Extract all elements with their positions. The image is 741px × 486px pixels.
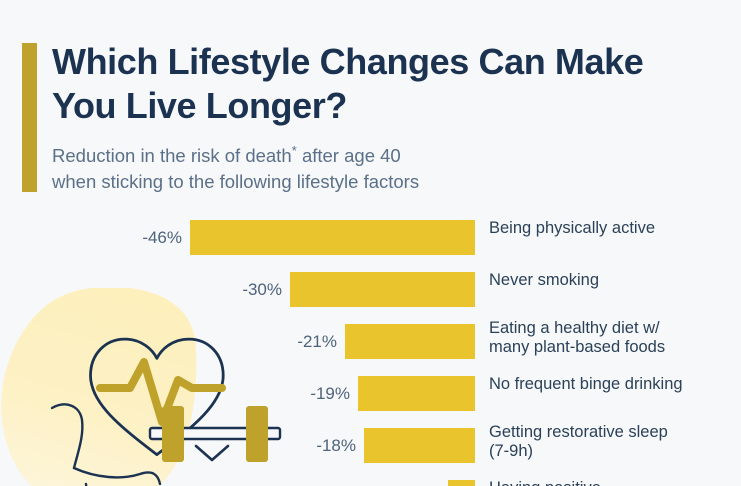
- chart-row: -19% No frequent binge drinking: [0, 376, 741, 420]
- bar: [358, 376, 475, 411]
- category-line-1: Being physically active: [489, 219, 655, 237]
- category-line-2: (7-9h): [489, 442, 533, 460]
- bar-category-label: Never smoking: [489, 271, 737, 290]
- category-line-1: Eating a healthy diet w/: [489, 319, 660, 337]
- bar-chart: -46% Being physically active -30% Never …: [0, 214, 741, 486]
- page-subtitle: Reduction in the risk of death* after ag…: [52, 143, 692, 196]
- header-accent-bar: [22, 43, 37, 192]
- chart-row: -18% Getting restorative sleep (7-9h): [0, 428, 741, 472]
- bar: [190, 220, 475, 255]
- chart-row: -46% Being physically active: [0, 220, 741, 264]
- page-title: Which Lifestyle Changes Can Make You Liv…: [52, 40, 712, 128]
- chart-row: -21% Eating a healthy diet w/ many plant…: [0, 324, 741, 368]
- subtitle-text-post: after age 40: [297, 145, 401, 166]
- bar-value-label: -19%: [310, 376, 350, 411]
- subtitle-text-pre: Reduction in the risk of death: [52, 145, 292, 166]
- subtitle-line-2: when sticking to the following lifestyle…: [52, 171, 419, 192]
- bar-value-label: -21%: [297, 324, 337, 359]
- bar-value-label: -30%: [242, 272, 282, 307]
- bar-category-label: Being physically active: [489, 219, 737, 238]
- bar: [448, 480, 475, 486]
- bar: [364, 428, 475, 463]
- bar-category-label: Having positive: [489, 479, 737, 486]
- infographic-root: Which Lifestyle Changes Can Make You Liv…: [0, 0, 741, 486]
- bar-value-label: -18%: [316, 428, 356, 463]
- category-line-1: Having positive: [489, 479, 601, 486]
- bar-category-label: No frequent binge drinking: [489, 375, 737, 394]
- category-line-2: many plant-based foods: [489, 338, 665, 356]
- category-line-1: Never smoking: [489, 271, 599, 289]
- chart-row: -30% Never smoking: [0, 272, 741, 316]
- bar: [290, 272, 475, 307]
- chart-row: Having positive: [0, 480, 741, 486]
- bar: [345, 324, 475, 359]
- category-line-1: Getting restorative sleep: [489, 423, 668, 441]
- bar-value-label: -46%: [142, 220, 182, 255]
- category-line-1: No frequent binge drinking: [489, 375, 683, 393]
- bar-category-label: Getting restorative sleep (7-9h): [489, 423, 737, 462]
- bar-category-label: Eating a healthy diet w/ many plant-base…: [489, 319, 737, 358]
